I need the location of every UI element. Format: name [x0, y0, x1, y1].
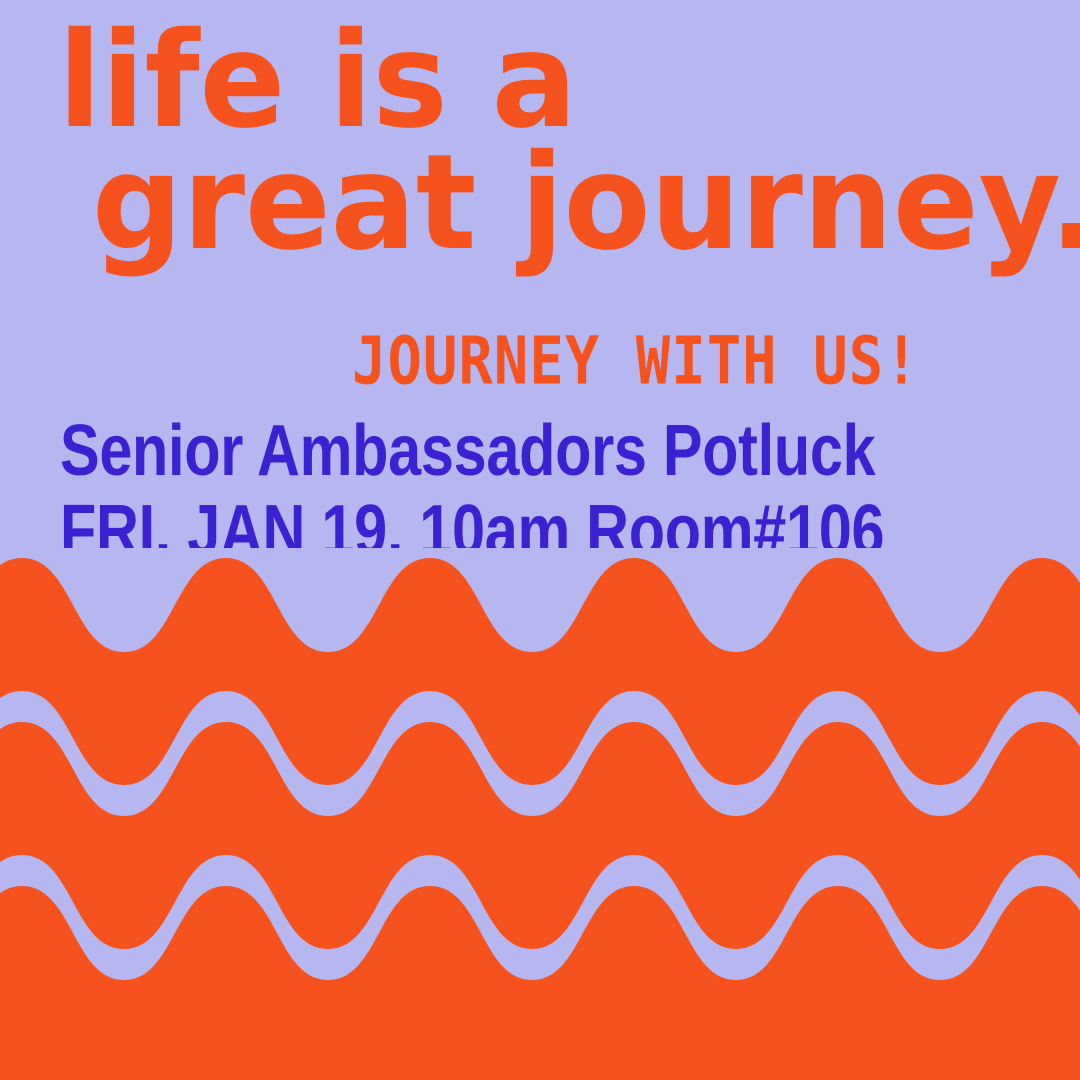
headline-line-2: great journey.: [92, 140, 1080, 267]
subhead-call-to-action: JOURNEY WITH US!: [352, 322, 920, 399]
wave-svg: [0, 548, 1080, 1080]
poster-canvas: life is a great journey. JOURNEY WITH US…: [0, 0, 1080, 1080]
wave-decoration: [0, 548, 1080, 1080]
event-name: Senior Ambassadors Potluck: [60, 408, 875, 492]
